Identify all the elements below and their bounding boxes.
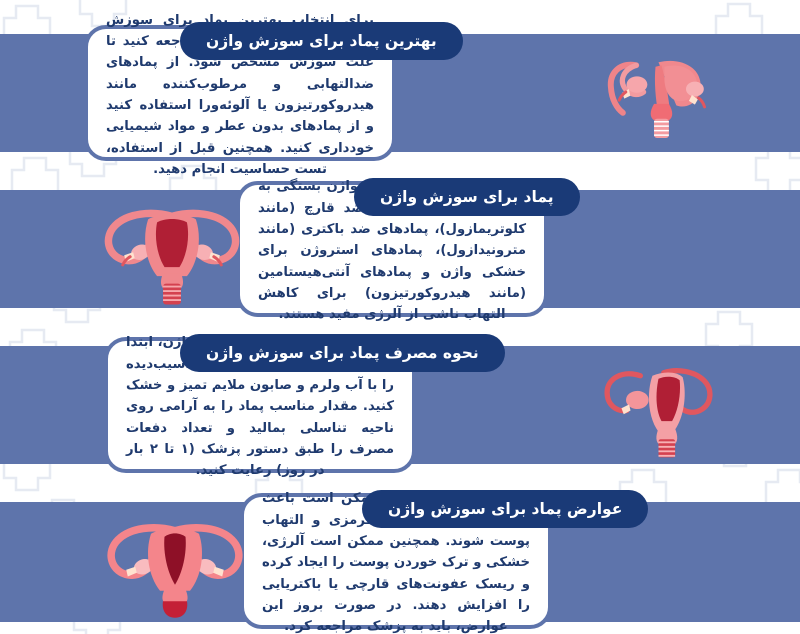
card-1-illustration xyxy=(588,40,726,144)
infographic-page: برای انتخاب بهترین پماد برای سوزش واژن، … xyxy=(0,0,800,634)
uterus-anatomy-icon xyxy=(96,194,248,306)
card-4-illustration xyxy=(100,506,250,620)
card-2-title: پماد برای سوزش واژن xyxy=(380,188,554,206)
uterus-anatomy-icon xyxy=(100,506,250,620)
card-3-title: نحوه مصرف پماد برای سوزش واژن xyxy=(206,344,479,362)
card-3-title-pill[interactable]: نحوه مصرف پماد برای سوزش واژن xyxy=(180,334,505,372)
uterus-anatomy-icon xyxy=(588,40,726,144)
card-1-title-pill[interactable]: بهترین پماد برای سوزش واژن xyxy=(180,22,463,60)
uterus-anatomy-icon xyxy=(592,352,728,460)
card-2-illustration xyxy=(96,194,248,306)
card-4-title: عوارض پماد برای سوزش واژن xyxy=(388,500,622,518)
card-2-title-pill[interactable]: پماد برای سوزش واژن xyxy=(354,178,580,216)
card-4-title-pill[interactable]: عوارض پماد برای سوزش واژن xyxy=(362,490,648,528)
card-3-illustration xyxy=(592,352,728,460)
card-1-title: بهترین پماد برای سوزش واژن xyxy=(206,32,437,50)
